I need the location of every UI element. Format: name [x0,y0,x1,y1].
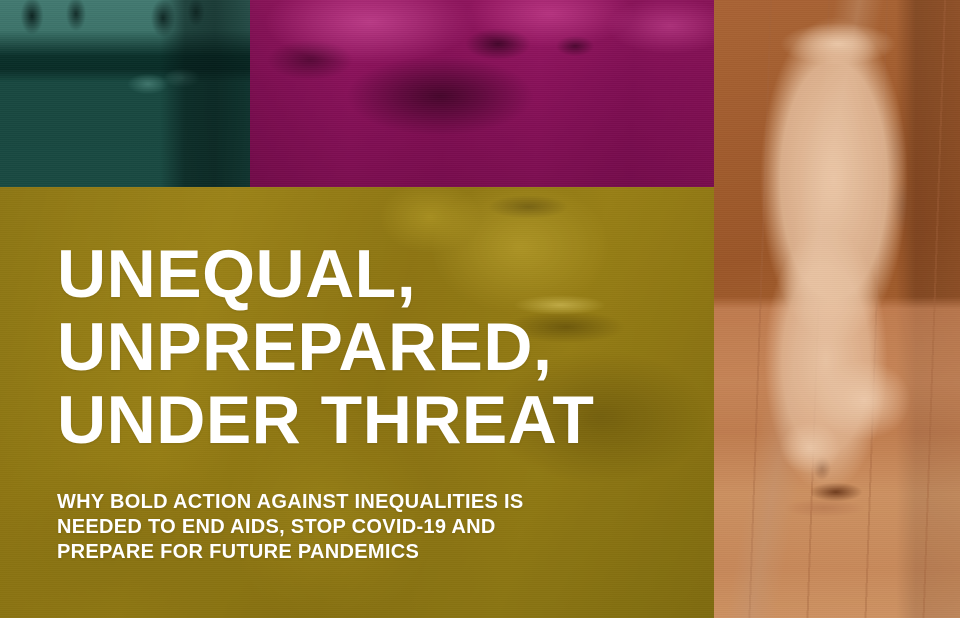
cover-title: UNEQUAL, UNPREPARED, UNDER THREAT [57,238,687,457]
magenta-photo-grain [250,0,714,187]
photo-panel-magenta [250,0,714,187]
sepia-photo-grain [714,0,960,618]
report-cover: UNEQUAL, UNPREPARED, UNDER THREAT WHY BO… [0,0,960,618]
photo-panel-teal [0,0,250,187]
photo-panel-sepia [714,0,960,618]
cover-subtitle: WHY BOLD ACTION AGAINST INEQUALITIES IS … [57,457,687,565]
teal-photo-grain [0,0,250,187]
cover-text-block: UNEQUAL, UNPREPARED, UNDER THREAT WHY BO… [57,238,687,565]
